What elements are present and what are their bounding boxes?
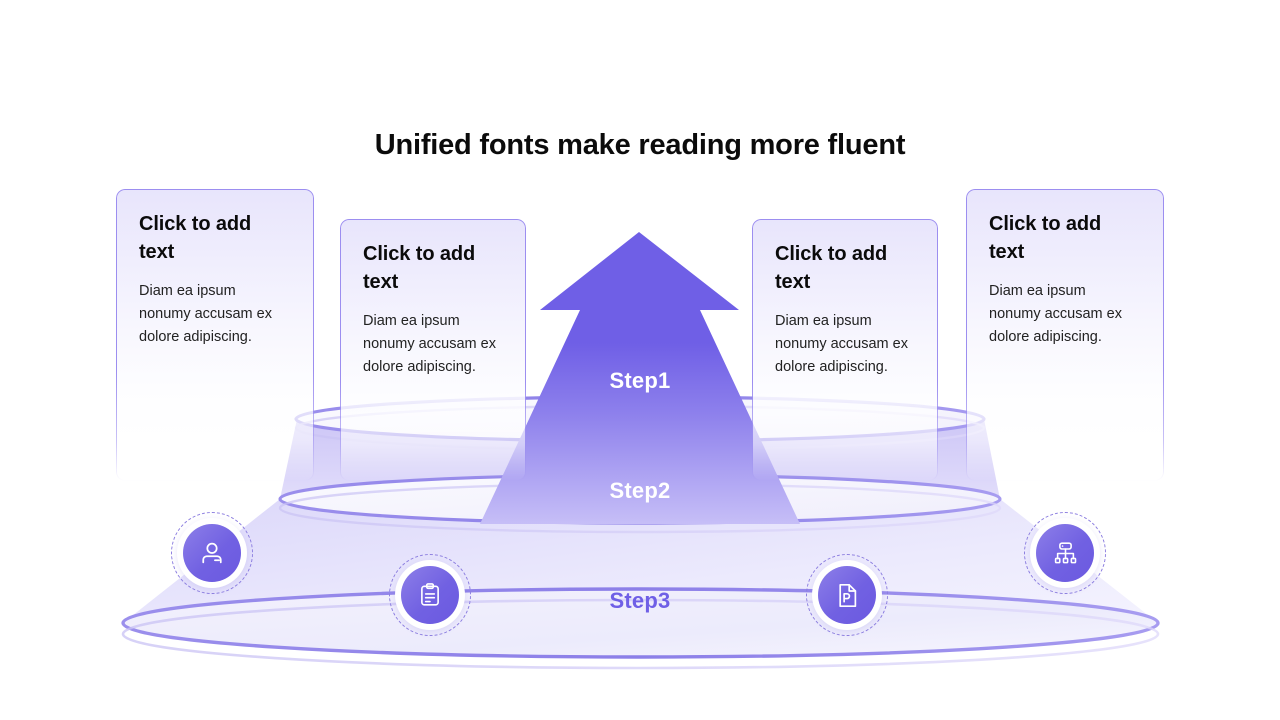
powerpoint-file-icon [834, 582, 861, 609]
text-card-4[interactable]: Click to add text Diam ea ipsum nonumy a… [966, 189, 1164, 481]
icon-badge-ring [395, 560, 465, 630]
text-card-2[interactable]: Click to add text Diam ea ipsum nonumy a… [340, 219, 526, 481]
icon-badge-disc [818, 566, 876, 624]
icon-badge-ring [812, 560, 882, 630]
user-icon [198, 539, 226, 567]
page-title: Unified fonts make reading more fluent [0, 126, 1280, 164]
icon-badge-user[interactable] [171, 512, 253, 594]
text-card-3-heading: Click to add text [775, 240, 915, 296]
icon-badge-ring [177, 518, 247, 588]
text-card-3[interactable]: Click to add text Diam ea ipsum nonumy a… [752, 219, 938, 481]
text-card-1-body: Diam ea ipsum nonumy accusam ex dolore a… [139, 280, 291, 349]
icon-badge-clipboard[interactable] [389, 554, 471, 636]
clipboard-icon [417, 582, 443, 608]
text-card-4-heading: Click to add text [989, 210, 1141, 266]
icon-badge-disc [1036, 524, 1094, 582]
icon-badge-powerpoint-file[interactable] [806, 554, 888, 636]
step-label-3: Step3 [540, 588, 740, 614]
org-chart-icon [1052, 540, 1079, 567]
text-card-3-body: Diam ea ipsum nonumy accusam ex dolore a… [775, 310, 915, 379]
text-card-2-heading: Click to add text [363, 240, 503, 296]
icon-badge-ring [1030, 518, 1100, 588]
step-label-2: Step2 [540, 478, 740, 504]
text-card-4-body: Diam ea ipsum nonumy accusam ex dolore a… [989, 280, 1141, 349]
text-card-2-body: Diam ea ipsum nonumy accusam ex dolore a… [363, 310, 503, 379]
icon-badge-disc [401, 566, 459, 624]
text-card-1-heading: Click to add text [139, 210, 291, 266]
icon-badge-org-chart[interactable] [1024, 512, 1106, 594]
slide-canvas: Unified fonts make reading more fluent C… [0, 0, 1280, 720]
icon-badge-disc [183, 524, 241, 582]
step-label-1: Step1 [540, 368, 740, 394]
text-card-1[interactable]: Click to add text Diam ea ipsum nonumy a… [116, 189, 314, 481]
